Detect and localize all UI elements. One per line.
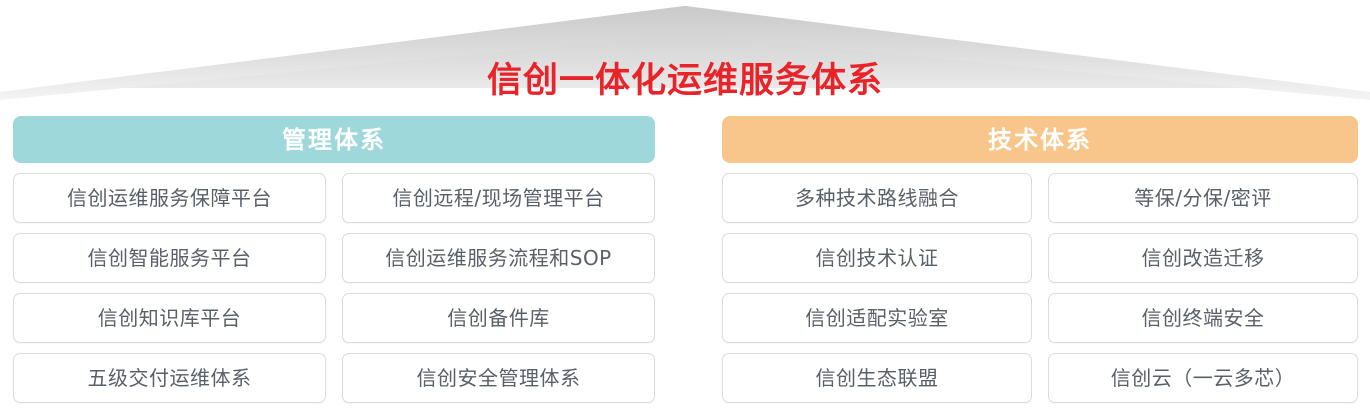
cell-label: 信创终端安全: [1142, 308, 1265, 328]
cell-label: 信创远程/现场管理平台: [392, 188, 604, 208]
cell-technology-2-2[interactable]: 信创改造迁移: [1048, 233, 1358, 283]
cell-technology-1-4[interactable]: 信创生态联盟: [722, 353, 1032, 403]
cell-management-2-3[interactable]: 信创备件库: [342, 293, 655, 343]
cell-management-1-2[interactable]: 信创智能服务平台: [13, 233, 326, 283]
group-grid-technology: 多种技术路线融合 等保/分保/密评 信创技术认证 信创改造迁移 信创适配实验室 …: [722, 173, 1358, 403]
cell-technology-1-1[interactable]: 多种技术路线融合: [722, 173, 1032, 223]
cell-label: 等保/分保/密评: [1134, 188, 1271, 208]
cell-label: 多种技术路线融合: [795, 188, 959, 208]
cell-label: 信创生态联盟: [816, 368, 939, 388]
group-header-management-label: 管理体系: [282, 128, 386, 152]
group-header-technology[interactable]: 技术体系: [722, 116, 1358, 163]
cell-management-2-2[interactable]: 信创运维服务流程和SOP: [342, 233, 655, 283]
cell-management-1-1[interactable]: 信创运维服务保障平台: [13, 173, 326, 223]
group-management: 管理体系 信创运维服务保障平台 信创远程/现场管理平台 信创智能服务平台 信创运…: [13, 116, 655, 403]
cell-technology-2-4[interactable]: 信创云（一云多芯）: [1048, 353, 1358, 403]
diagram-root: 信创一体化运维服务体系 管理体系 信创运维服务保障平台 信创远程/现场管理平台 …: [0, 0, 1370, 418]
cell-label: 信创安全管理体系: [417, 368, 581, 388]
cell-label: 信创技术认证: [816, 248, 939, 268]
cell-technology-2-1[interactable]: 等保/分保/密评: [1048, 173, 1358, 223]
cell-label: 信创运维服务保障平台: [67, 188, 272, 208]
cell-label: 信创智能服务平台: [88, 248, 252, 268]
cell-management-1-3[interactable]: 信创知识库平台: [13, 293, 326, 343]
cell-label: 信创云（一云多芯）: [1111, 368, 1296, 388]
cell-label: 信创备件库: [447, 308, 550, 328]
group-technology: 技术体系 多种技术路线融合 等保/分保/密评 信创技术认证 信创改造迁移 信创适…: [722, 116, 1358, 403]
page-title: 信创一体化运维服务体系: [487, 64, 883, 99]
cell-technology-1-3[interactable]: 信创适配实验室: [722, 293, 1032, 343]
cell-label: 信创知识库平台: [98, 308, 242, 328]
cell-label: 信创运维服务流程和SOP: [385, 248, 612, 268]
cell-technology-2-3[interactable]: 信创终端安全: [1048, 293, 1358, 343]
group-header-technology-label: 技术体系: [988, 128, 1092, 152]
cell-management-2-4[interactable]: 信创安全管理体系: [342, 353, 655, 403]
cell-label: 信创改造迁移: [1142, 248, 1265, 268]
cell-management-1-4[interactable]: 五级交付运维体系: [13, 353, 326, 403]
pillar-groups: 管理体系 信创运维服务保障平台 信创远程/现场管理平台 信创智能服务平台 信创运…: [0, 116, 1370, 418]
cell-label: 五级交付运维体系: [88, 368, 252, 388]
title-band: 信创一体化运维服务体系: [0, 54, 1370, 108]
cell-label: 信创适配实验室: [805, 308, 949, 328]
cell-management-2-1[interactable]: 信创远程/现场管理平台: [342, 173, 655, 223]
cell-technology-1-2[interactable]: 信创技术认证: [722, 233, 1032, 283]
group-grid-management: 信创运维服务保障平台 信创远程/现场管理平台 信创智能服务平台 信创运维服务流程…: [13, 173, 655, 403]
group-header-management[interactable]: 管理体系: [13, 116, 655, 163]
